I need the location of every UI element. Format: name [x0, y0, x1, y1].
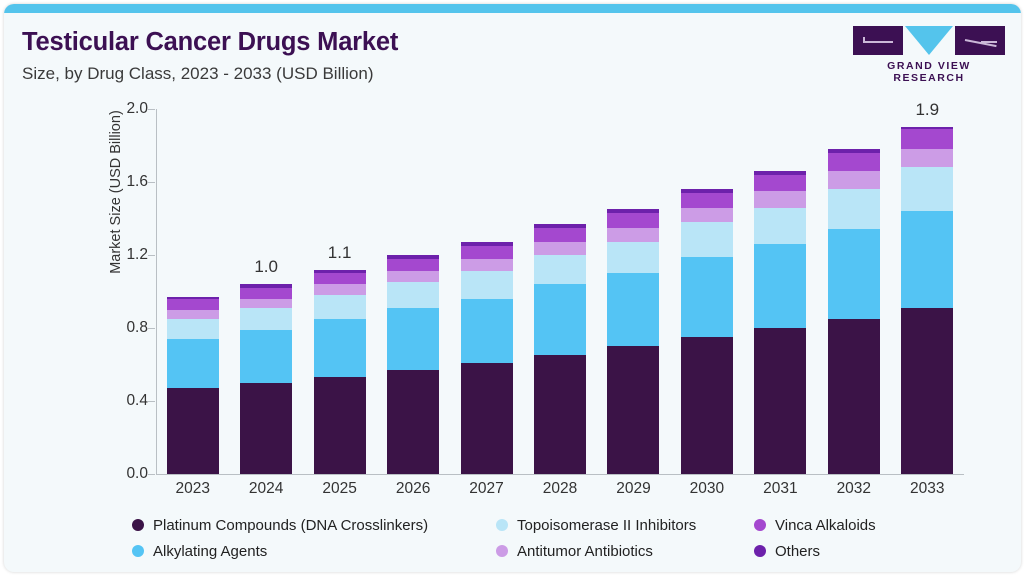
legend-item-alkylating-agents[interactable]: Alkylating Agents — [132, 543, 496, 560]
bar-segment[interactable] — [681, 189, 733, 193]
grand-view-research-logo: GRAND VIEW RESEARCH — [853, 26, 1005, 78]
bar-group-2027[interactable] — [461, 109, 513, 474]
logo-right-line2-icon — [981, 41, 997, 43]
bar-segment[interactable] — [240, 299, 292, 308]
bar-segment[interactable] — [534, 242, 586, 255]
bar-segment[interactable] — [607, 213, 659, 228]
legend-swatch-icon — [132, 519, 144, 531]
bar-segment[interactable] — [240, 308, 292, 330]
x-axis-label-2026: 2026 — [373, 480, 453, 498]
bar-segment[interactable] — [901, 129, 953, 149]
bar-segment[interactable] — [534, 228, 586, 243]
chart-card: Testicular Cancer Drugs Market Size, by … — [4, 4, 1021, 572]
x-axis-label-2023: 2023 — [153, 480, 233, 498]
x-axis-label-2027: 2027 — [447, 480, 527, 498]
bar-segment[interactable] — [240, 288, 292, 299]
bar-segment[interactable] — [387, 259, 439, 272]
logo-text: GRAND VIEW RESEARCH — [853, 60, 1005, 84]
legend-label: Platinum Compounds (DNA Crosslinkers) — [153, 517, 428, 534]
bar-segment[interactable] — [681, 193, 733, 208]
bar-group-2026[interactable] — [387, 109, 439, 474]
x-axis-label-2029: 2029 — [593, 480, 673, 498]
bar-segment[interactable] — [461, 242, 513, 246]
plot-area: 1.01.11.9 — [156, 109, 964, 474]
bar-segment[interactable] — [828, 229, 880, 318]
x-axis-label-2030: 2030 — [667, 480, 747, 498]
legend-label: Others — [775, 543, 820, 560]
page-subtitle: Size, by Drug Class, 2023 - 2033 (USD Bi… — [22, 64, 373, 84]
bar-segment[interactable] — [901, 211, 953, 308]
logo-triangle-icon — [905, 26, 953, 55]
legend-swatch-icon — [754, 519, 766, 531]
bar-segment[interactable] — [240, 284, 292, 288]
bar-segment[interactable] — [387, 255, 439, 259]
bar-segment[interactable] — [607, 209, 659, 213]
bar-segment[interactable] — [607, 228, 659, 243]
bar-segment[interactable] — [314, 319, 366, 377]
bar-segment[interactable] — [167, 310, 219, 319]
bar-group-2033[interactable]: 1.9 — [901, 109, 953, 474]
legend-item-others[interactable]: Others — [754, 543, 964, 560]
bar-segment[interactable] — [461, 259, 513, 272]
bar-segment[interactable] — [754, 328, 806, 474]
legend-label: Antitumor Antibiotics — [517, 543, 653, 560]
y-axis-tick-label: 0.8 — [126, 319, 148, 337]
bar-segment[interactable] — [314, 270, 366, 274]
bar-segment[interactable] — [387, 370, 439, 474]
bar-group-2029[interactable] — [607, 109, 659, 474]
bar-segment[interactable] — [167, 319, 219, 339]
bar-segment[interactable] — [901, 149, 953, 167]
legend-row-1: Platinum Compounds (DNA Crosslinkers) To… — [132, 512, 972, 538]
bar-segment[interactable] — [461, 246, 513, 259]
legend-row-2: Alkylating Agents Antitumor Antibiotics … — [132, 538, 972, 564]
y-axis-tick-label: 1.6 — [126, 173, 148, 191]
x-axis-label-2028: 2028 — [520, 480, 600, 498]
bar-value-label: 1.1 — [300, 243, 380, 263]
logo-left-line-icon — [863, 41, 893, 43]
bar-group-2031[interactable] — [754, 109, 806, 474]
bar-segment[interactable] — [387, 271, 439, 282]
bar-segment[interactable] — [681, 222, 733, 257]
bar-segment[interactable] — [754, 244, 806, 328]
legend-swatch-icon — [132, 545, 144, 557]
legend-item-platinum-compounds[interactable]: Platinum Compounds (DNA Crosslinkers) — [132, 517, 496, 534]
logo-left-tick-icon — [863, 37, 865, 43]
legend-label: Topoisomerase II Inhibitors — [517, 517, 696, 534]
bar-segment[interactable] — [387, 308, 439, 370]
x-axis-line — [156, 474, 964, 475]
bar-segment[interactable] — [461, 271, 513, 298]
bar-segment[interactable] — [167, 388, 219, 474]
bar-segment[interactable] — [240, 383, 292, 474]
bar-segment[interactable] — [167, 339, 219, 388]
y-axis-tick-mark — [148, 109, 155, 110]
page-title: Testicular Cancer Drugs Market — [22, 28, 398, 57]
x-axis-label-2033: 2033 — [887, 480, 967, 498]
x-axis-label-2032: 2032 — [814, 480, 894, 498]
bar-segment[interactable] — [534, 284, 586, 355]
bar-segment[interactable] — [828, 189, 880, 229]
bar-segment[interactable] — [461, 363, 513, 474]
bar-segment[interactable] — [681, 337, 733, 474]
bar-group-2032[interactable] — [828, 109, 880, 474]
x-axis-label-2031: 2031 — [740, 480, 820, 498]
bar-value-label: 1.9 — [887, 100, 967, 120]
bar-segment[interactable] — [754, 175, 806, 191]
y-axis-tick-mark — [148, 401, 155, 402]
accent-top-bar — [4, 4, 1021, 13]
bar-segment[interactable] — [167, 299, 219, 310]
bar-segment[interactable] — [314, 273, 366, 284]
bar-group-2025[interactable]: 1.1 — [314, 109, 366, 474]
bar-segment[interactable] — [754, 208, 806, 245]
bar-segment[interactable] — [534, 224, 586, 228]
legend-label: Alkylating Agents — [153, 543, 267, 560]
x-axis-label-2025: 2025 — [300, 480, 380, 498]
bar-segment[interactable] — [314, 377, 366, 474]
bar-segment[interactable] — [314, 295, 366, 319]
bar-segment[interactable] — [534, 255, 586, 284]
y-axis-tick-mark — [148, 474, 155, 475]
bar-segment[interactable] — [828, 153, 880, 171]
bar-segment[interactable] — [681, 208, 733, 223]
y-axis-tick-mark — [148, 182, 155, 183]
logo-right-rect-icon — [955, 26, 1005, 55]
x-axis-label-2024: 2024 — [226, 480, 306, 498]
bar-segment[interactable] — [901, 127, 953, 129]
bar-segment[interactable] — [240, 330, 292, 383]
legend-swatch-icon — [496, 519, 508, 531]
bar-group-2024[interactable]: 1.0 — [240, 109, 292, 474]
y-axis-tick-label: 2.0 — [126, 100, 148, 118]
bar-segment[interactable] — [607, 242, 659, 273]
legend-label: Vinca Alkaloids — [775, 517, 876, 534]
y-axis-tick-label: 0.4 — [126, 392, 148, 410]
bar-segment[interactable] — [681, 257, 733, 337]
chart-legend: Platinum Compounds (DNA Crosslinkers) To… — [132, 512, 972, 564]
legend-item-antitumor-antibiotics[interactable]: Antitumor Antibiotics — [496, 543, 754, 560]
bar-segment[interactable] — [167, 297, 219, 299]
bar-group-2028[interactable] — [534, 109, 586, 474]
bar-segment[interactable] — [828, 149, 880, 153]
legend-swatch-icon — [496, 545, 508, 557]
bar-segment[interactable] — [461, 299, 513, 363]
bar-segment[interactable] — [534, 355, 586, 474]
y-axis-tick-label: 1.2 — [126, 246, 148, 264]
bar-segment[interactable] — [754, 171, 806, 175]
bar-segment[interactable] — [607, 273, 659, 346]
bar-value-label: 1.0 — [226, 257, 306, 277]
bar-segment[interactable] — [828, 171, 880, 189]
bar-segment[interactable] — [387, 282, 439, 308]
y-axis-tick-mark — [148, 328, 155, 329]
legend-swatch-icon — [754, 545, 766, 557]
legend-item-vinca-alkaloids[interactable]: Vinca Alkaloids — [754, 517, 964, 534]
legend-item-topoisomerase-ii-inhibitors[interactable]: Topoisomerase II Inhibitors — [496, 517, 754, 534]
logo-mark — [853, 26, 1005, 55]
bar-group-2030[interactable] — [681, 109, 733, 474]
bar-segment[interactable] — [754, 191, 806, 207]
y-axis-tick-label: 0.0 — [126, 465, 148, 483]
bar-segment[interactable] — [901, 167, 953, 211]
bar-group-2023[interactable] — [167, 109, 219, 474]
y-axis-tick-mark — [148, 255, 155, 256]
y-axis-ticks: 0.00.40.81.21.62.0 — [82, 109, 148, 474]
bar-segment[interactable] — [901, 308, 953, 474]
bar-segment[interactable] — [828, 319, 880, 474]
bar-segment[interactable] — [314, 284, 366, 295]
bar-segment[interactable] — [607, 346, 659, 474]
